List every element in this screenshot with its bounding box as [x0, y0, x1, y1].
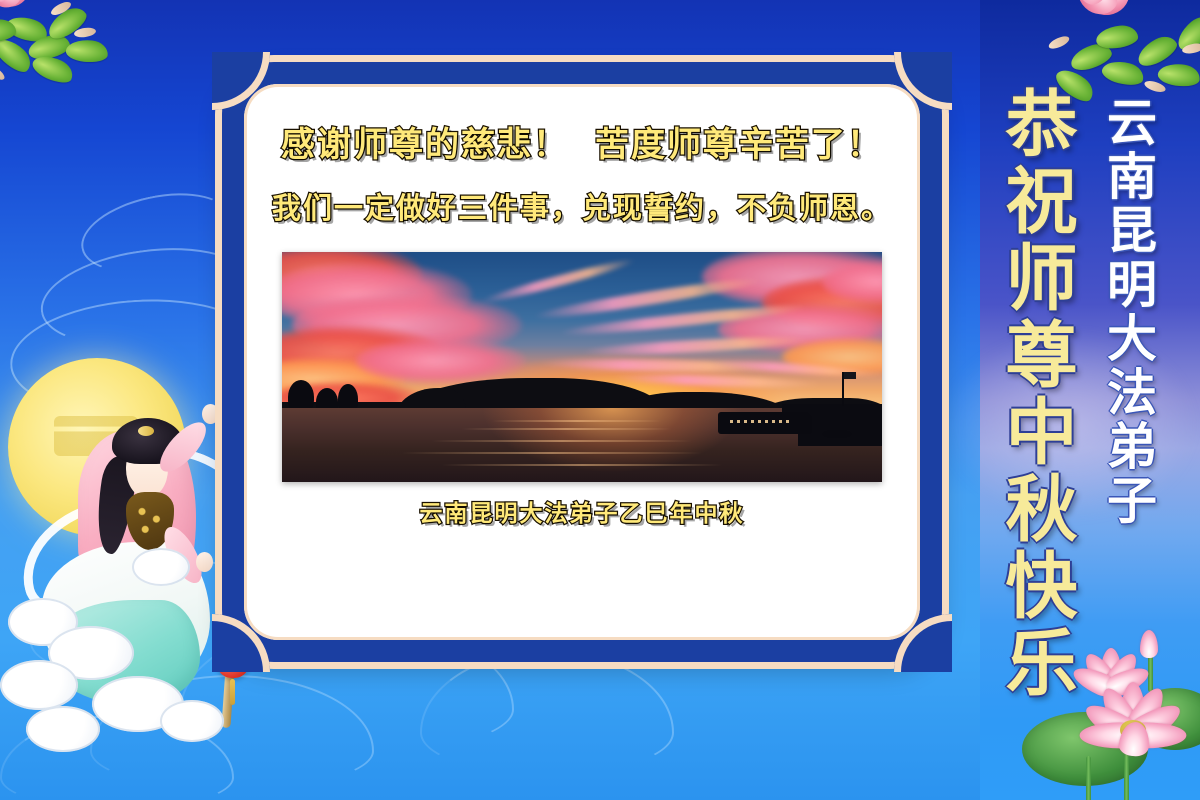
- card-frame: 感谢师尊的慈悲！苦度师尊辛苦了！ 我们一定做好三件事，兑现誓约，不负师恩。: [222, 62, 942, 662]
- cloud-puff: [160, 700, 224, 742]
- sunset-lake-photo: [282, 252, 882, 482]
- greeting-line-1-part-2: 苦度师尊辛苦了！: [595, 125, 883, 165]
- card-inner-panel: 感谢师尊的慈悲！苦度师尊辛苦了！ 我们一定做好三件事，兑现誓约，不负师恩。: [244, 84, 920, 640]
- flag-icon: [844, 372, 856, 379]
- lantern-tassel: [230, 679, 235, 705]
- signature-text: 云南昆明大法弟子: [420, 498, 620, 530]
- vertical-main-title: 恭祝师尊中秋快乐: [996, 86, 1074, 716]
- cloud-puff: [132, 548, 190, 586]
- cloud-puff: [26, 706, 100, 752]
- greeting-line-2: 我们一定做好三件事，兑现誓约，不负师恩。: [272, 186, 892, 230]
- cloud-puff: [0, 660, 78, 710]
- hair-pin-icon: [138, 426, 154, 436]
- photo-caption-row: 云南昆明大法弟子 乙巳年中秋: [420, 498, 745, 530]
- blossom-icon: [1063, 0, 1144, 17]
- boat: [718, 412, 812, 434]
- greeting-line-1-part-1: 感谢师尊的慈悲！: [281, 125, 569, 165]
- lotus-flower-front: [1080, 680, 1188, 780]
- date-text: 乙巳年中秋: [620, 498, 745, 530]
- blossom-icon: [0, 0, 38, 11]
- small-boat: [822, 430, 852, 438]
- flower-spray-top-left: [0, 0, 170, 124]
- greeting-line-1: 感谢师尊的慈悲！苦度师尊辛苦了！: [281, 122, 883, 168]
- hand-upper: [202, 404, 219, 424]
- greeting-card-canvas: 福 感谢师尊的慈悲！苦度师尊辛苦了！ 我们一定做好三件事，兑现誓约，不负师恩。: [0, 0, 1200, 800]
- vertical-sub-title: 云南昆明大法弟子: [1100, 96, 1158, 656]
- hand-lower: [196, 552, 213, 572]
